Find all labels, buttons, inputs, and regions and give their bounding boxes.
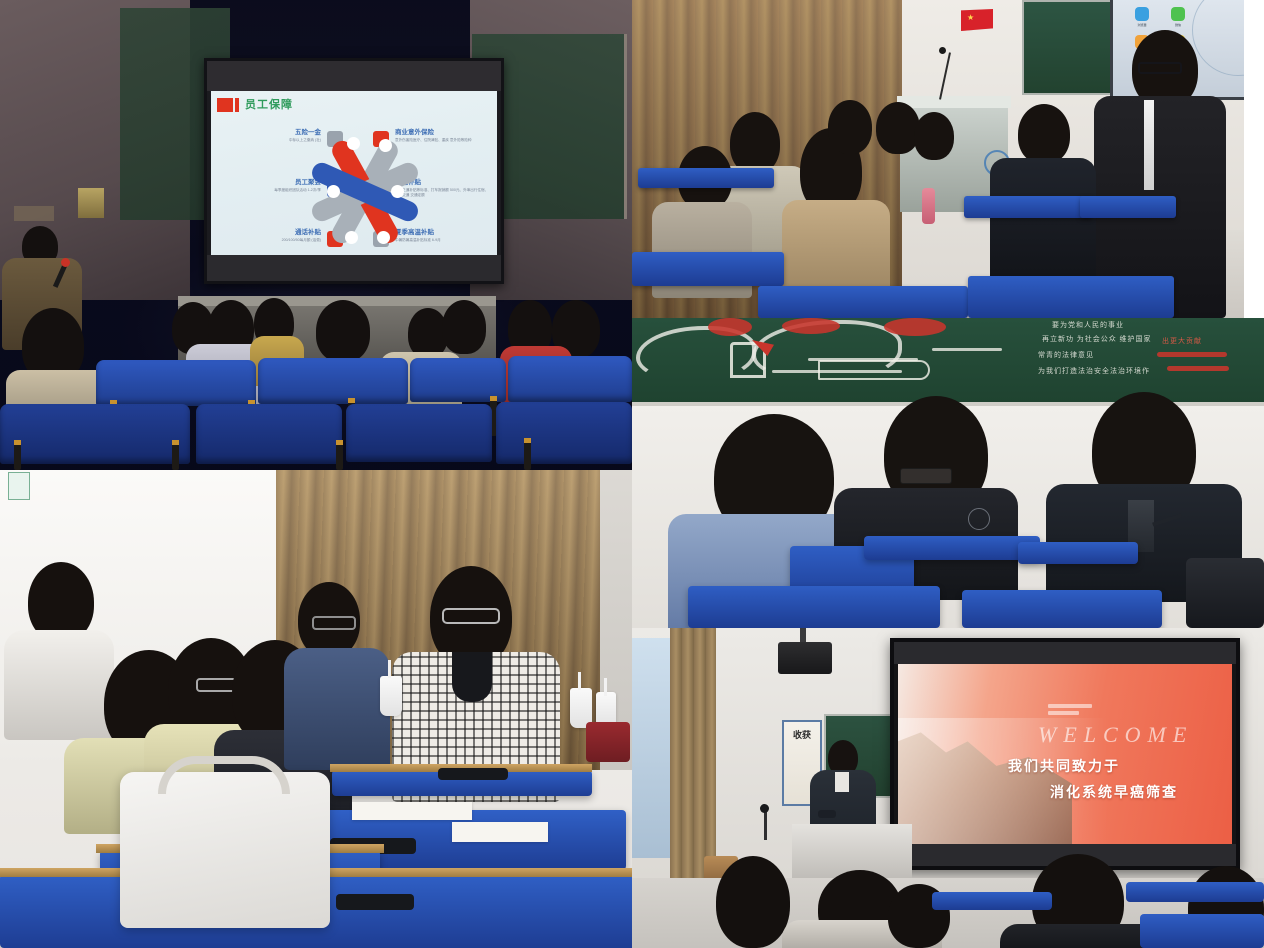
chalk-underline — [1167, 366, 1229, 371]
slide-item-desc: 每季度组织团队活动 1-2次/季 — [225, 188, 321, 193]
photo-panel-chalkboard-meeting: 要为党和人民的事业 再立新功 为社会公众 维护国家 常青的法律意见 为我们打造法… — [632, 318, 1264, 628]
handbag-strap — [158, 756, 290, 794]
audience-head — [716, 856, 790, 948]
slide-item: 商业意外保险 意外伤害险医疗、住院津贴、重疾 意外险等险种 — [395, 129, 491, 165]
slide-x-graphic — [323, 127, 407, 257]
classroom-desk — [1018, 542, 1138, 564]
podium-top — [897, 96, 1011, 108]
jacket-logo-icon — [968, 508, 990, 530]
slide-item-title: 五险一金 — [225, 129, 321, 137]
app-label: 微信 — [1167, 23, 1189, 27]
ceiling-projector — [778, 642, 832, 674]
welcome-heading: WELCOME — [1038, 722, 1193, 748]
glasses-icon — [312, 616, 356, 630]
globe-icon — [1135, 7, 1149, 21]
slide-item: 五险一金 中标以上之缴纳 (社) — [225, 129, 321, 165]
auditorium-seat — [508, 356, 632, 402]
student-body — [990, 158, 1096, 280]
inner-top — [452, 652, 492, 702]
straw-icon — [604, 678, 607, 696]
screen-top-bar — [207, 61, 501, 91]
glasses-icon — [900, 468, 952, 484]
water-bottle — [922, 188, 935, 224]
slide-item-desc: 意外伤害险医疗、住院津贴、重疾 意外险等险种 — [395, 138, 491, 143]
classroom-desk — [968, 276, 1174, 318]
microphone-head-icon — [61, 258, 70, 267]
chalkboard-text-accent: 出更大贡献 — [1162, 336, 1202, 346]
phone-device — [818, 810, 836, 818]
seat-post — [524, 438, 531, 470]
microphone-head-icon — [939, 47, 946, 54]
chalk-art-red — [708, 318, 752, 336]
center-logo-icon — [1048, 704, 1092, 720]
wall-notice-icon — [8, 472, 30, 500]
curtain — [670, 628, 716, 878]
projection-screen: 员工保障 五险一金 中标以上之缴纳 (社) 员工聚会 每季度组织团队活动 1-2… — [204, 58, 504, 284]
slide-item-title: 夏季高温补贴 — [395, 229, 491, 237]
chalkboard-text: 常青的法律意见 — [1038, 350, 1094, 360]
flag-star-icon: ★ — [967, 13, 974, 22]
audience-head — [316, 300, 370, 362]
student-head — [876, 102, 920, 154]
slide-title: 员工保障 — [245, 96, 293, 112]
chalkboard-text: 再立新功 为社会公众 维护国家 — [1042, 334, 1152, 344]
student-head — [914, 112, 954, 160]
chinese-flag-icon — [961, 9, 993, 31]
chalk-art-red — [782, 318, 840, 334]
photo-panel-welcome-lecture: 收获 WELCOME 我们共同致力于 消化系统早癌筛查 — [632, 628, 1264, 948]
handbag — [120, 772, 330, 928]
x-node-icon — [379, 139, 392, 152]
student-body — [782, 200, 890, 298]
welcome-line-1: 我们共同致力于 — [1008, 756, 1120, 776]
student-body — [284, 648, 390, 770]
student-head — [1018, 104, 1070, 164]
chalk-art-ship — [818, 360, 930, 380]
welcome-slide: WELCOME 我们共同致力于 消化系统早癌筛查 — [898, 664, 1232, 844]
coffee-cup — [380, 676, 402, 716]
classroom-desk — [638, 168, 774, 188]
classroom-desk — [1126, 882, 1264, 902]
student-body — [4, 630, 114, 740]
classroom-desk — [1080, 196, 1176, 218]
photo-panel-student-audience — [0, 470, 632, 948]
photo-collage: 员工保障 五险一金 中标以上之缴纳 (社) 员工聚会 每季度组织团队活动 1-2… — [0, 0, 1264, 948]
slide-item: 夏季高温补贴 中暑防暑高温补贴标准 6-9月 — [395, 229, 491, 265]
x-node-icon — [347, 137, 360, 150]
audience-head — [442, 300, 486, 354]
x-node-icon — [377, 231, 390, 244]
classroom-desk — [1140, 914, 1264, 948]
classroom-desk — [688, 586, 940, 628]
student-head — [828, 100, 872, 154]
chat-icon — [1171, 7, 1185, 21]
phone-device — [438, 768, 508, 780]
auditorium-seat — [496, 402, 632, 464]
shirt-collar — [835, 772, 849, 792]
slide-item: 通话补贴 200/100/50每月额 (话费) — [225, 229, 321, 265]
auditorium-seat — [258, 358, 408, 404]
auditorium-seat — [0, 404, 190, 464]
slide-item-title: 商业意外保险 — [395, 129, 491, 137]
slide-item-desc: 公交之通补贴等标准、打车报销额 500元、外埠出行住宿、公务交通 交通定额 — [395, 188, 491, 198]
auditorium-seat — [346, 404, 492, 462]
slide-item-title: 通话补贴 — [225, 229, 321, 237]
microphone-head-icon — [760, 804, 769, 813]
chalk-art-red — [884, 318, 946, 336]
photo-panel-classroom-presentation: ★ 浏览器 微信 相册 文件 用户 — [632, 0, 1244, 318]
slide-item-desc: 200/100/50每月额 (话费) — [225, 238, 321, 243]
decorated-chalkboard: 要为党和人民的事业 再立新功 为社会公众 维护国家 常青的法律意见 为我们打造法… — [632, 318, 1264, 406]
collar-stripe — [1144, 100, 1154, 190]
photo-panel-lecture-hall: 员工保障 五险一金 中标以上之缴纳 (社) 员工聚会 每季度组织团队活动 1-2… — [0, 0, 632, 470]
glasses-icon — [1138, 62, 1182, 74]
app-label: 浏览器 — [1131, 23, 1153, 27]
slide-item-desc: 中标以上之缴纳 (社) — [225, 138, 321, 143]
glasses-icon — [442, 608, 500, 624]
classroom-desk — [632, 252, 784, 286]
classroom-desk — [962, 590, 1162, 628]
x-node-icon — [327, 185, 340, 198]
seat-post — [336, 440, 343, 470]
chalkboard — [1022, 0, 1112, 95]
screen-top-bar — [894, 642, 1236, 664]
benefits-slide: 员工保障 五险一金 中标以上之缴纳 (社) 员工聚会 每季度组织团队活动 1-2… — [211, 91, 497, 255]
classroom-desk — [758, 286, 968, 318]
slide-item: 员工聚会 每季度组织团队活动 1-2次/季 — [225, 179, 321, 215]
seat-post — [14, 440, 21, 470]
chalk-art-line — [932, 348, 1002, 351]
slide-accent-bar — [217, 98, 233, 112]
classroom-desk — [932, 892, 1052, 910]
wall-poster-icon — [78, 188, 104, 218]
student-head — [730, 112, 780, 174]
straw-icon — [578, 672, 581, 690]
scroll-characters: 收获 — [784, 728, 820, 741]
wall-sign-icon — [14, 206, 54, 221]
slide-accent-bar-thin — [235, 98, 239, 112]
seat-post — [172, 440, 179, 470]
phone-device — [336, 894, 414, 910]
bag — [1186, 558, 1264, 628]
x-node-icon — [345, 231, 358, 244]
slide-left-column: 五险一金 中标以上之缴纳 (社) 员工聚会 每季度组织团队活动 1-2次/季 通… — [225, 129, 321, 279]
red-item — [586, 722, 630, 762]
welcome-line-2: 消化系统早癌筛查 — [1050, 782, 1178, 802]
paper-sheet — [352, 802, 472, 820]
slide-item-desc: 中暑防暑高温补贴标准 6-9月 — [395, 238, 491, 243]
auditorium-seat — [196, 404, 342, 464]
paper-sheet — [452, 822, 548, 842]
classroom-desk — [864, 536, 1040, 560]
classroom-desk — [964, 196, 1092, 218]
chalkboard-text: 为我们打造法治安全法治环境作 — [1038, 366, 1150, 376]
chalk-underline — [1157, 352, 1227, 357]
straw-icon — [388, 660, 391, 678]
x-node-icon — [391, 185, 404, 198]
chalkboard-text: 要为党和人民的事业 — [1052, 320, 1124, 330]
projection-screen: WELCOME 我们共同致力于 消化系统早癌筛查 — [890, 638, 1240, 870]
slide-item-title: 员工聚会 — [225, 179, 321, 187]
auditorium-seat — [96, 360, 256, 406]
